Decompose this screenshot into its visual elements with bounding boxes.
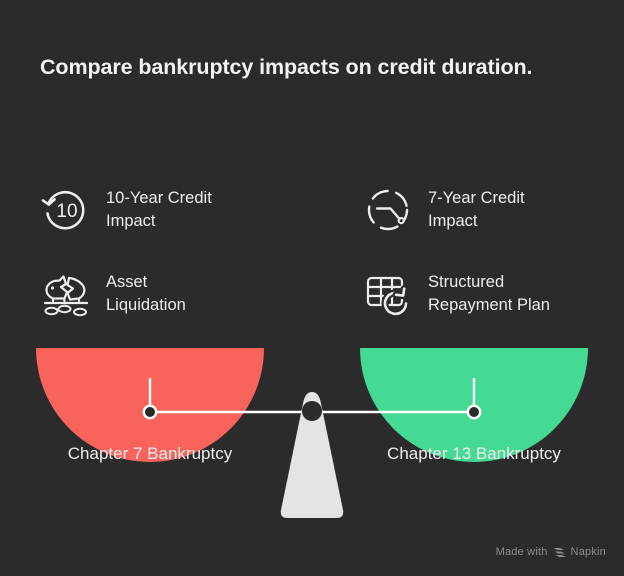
infographic-canvas: Compare bankruptcy impacts on credit dur… <box>0 0 624 576</box>
right-pan-caption: Chapter 13 Bankruptcy <box>360 444 588 464</box>
feature-left-credit-impact: 10 10-Year Credit Impact <box>40 184 212 236</box>
table-refresh-icon <box>362 268 414 320</box>
feature-label: Structured Repayment Plan <box>428 271 550 318</box>
feature-label: 7-Year Credit Impact <box>428 187 525 234</box>
feature-right-credit-impact: 7-Year Credit Impact <box>362 184 525 236</box>
feature-left-asset-liquidation: Asset Liquidation <box>40 268 186 320</box>
watermark: Made with Napkin <box>496 546 606 558</box>
page-title: Compare bankruptcy impacts on credit dur… <box>40 52 600 82</box>
napkin-chevron-logo <box>553 547 566 558</box>
right-pivot-ring <box>468 406 480 418</box>
feature-label: Asset Liquidation <box>106 271 186 318</box>
feature-label: 10-Year Credit Impact <box>106 187 212 234</box>
feature-right-repayment-plan: Structured Repayment Plan <box>362 268 550 320</box>
dashed-timer-icon <box>362 184 414 236</box>
left-pan-caption: Chapter 7 Bankruptcy <box>36 444 264 464</box>
fulcrum-pivot-hole <box>302 401 322 421</box>
watermark-prefix: Made with <box>496 546 548 558</box>
balance-scale-graphic <box>0 330 624 530</box>
svg-text:10: 10 <box>56 201 77 222</box>
rotate-ccw-10-icon: 10 <box>40 184 92 236</box>
watermark-brand: Napkin <box>571 546 606 558</box>
broken-piggy-bank-icon <box>40 268 92 320</box>
left-pivot-ring <box>144 406 156 418</box>
